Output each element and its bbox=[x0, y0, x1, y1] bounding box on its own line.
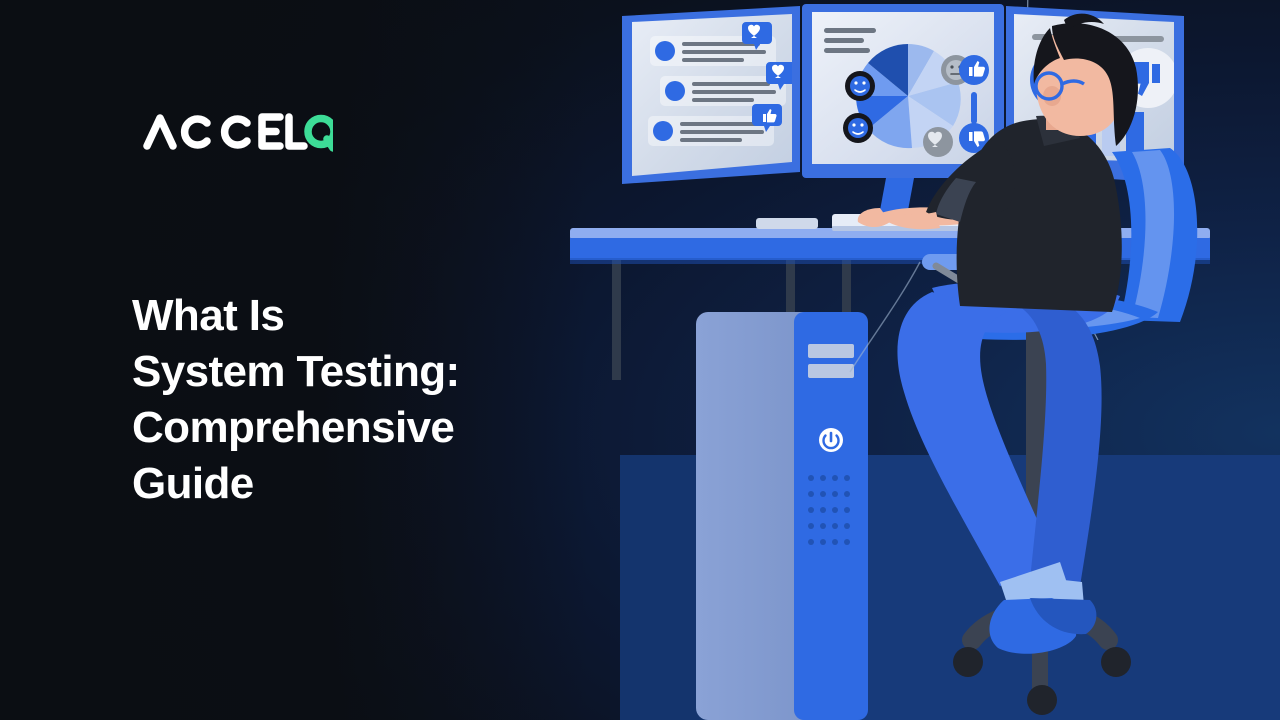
headline-line-4: Guide bbox=[132, 459, 254, 508]
workspace-illustration bbox=[560, 0, 1280, 720]
monitor-left-content bbox=[648, 22, 796, 146]
monitor-center[interactable] bbox=[802, 4, 1004, 178]
pc-tower[interactable] bbox=[696, 312, 868, 720]
text-line bbox=[682, 50, 766, 54]
text-line bbox=[682, 58, 744, 62]
text-line bbox=[824, 38, 864, 43]
page-title: What Is System Testing: Comprehensive Gu… bbox=[132, 288, 562, 512]
monitor-left[interactable] bbox=[622, 6, 800, 184]
accelq-logo[interactable]: ACCELQ bbox=[143, 108, 333, 154]
text-line bbox=[680, 138, 742, 142]
chair-caster bbox=[1101, 647, 1131, 677]
blog-banner: ACCELQ What Is System Testing: Comprehen… bbox=[0, 0, 1280, 720]
tower-drive-bay bbox=[808, 364, 854, 378]
emoji-marker bbox=[845, 71, 875, 101]
tower-drive-bay bbox=[808, 344, 854, 358]
mouse-pad bbox=[756, 218, 818, 229]
heart-marker bbox=[923, 127, 953, 157]
desk-leg-left bbox=[612, 260, 621, 380]
emoji-marker bbox=[843, 113, 873, 143]
text-line bbox=[692, 82, 770, 86]
text-line bbox=[692, 90, 776, 94]
avatar bbox=[653, 121, 673, 141]
avatar bbox=[655, 41, 675, 61]
text-line bbox=[680, 122, 758, 126]
chair-caster bbox=[953, 647, 983, 677]
headline-line-2: System Testing: bbox=[132, 347, 460, 396]
accelq-logo-mark bbox=[143, 108, 333, 154]
headline-line-1: What Is bbox=[132, 291, 284, 340]
avatar bbox=[665, 81, 685, 101]
text-line bbox=[692, 98, 754, 102]
slider-track bbox=[971, 92, 977, 124]
power-icon[interactable] bbox=[819, 428, 843, 452]
chair-caster bbox=[1027, 685, 1057, 715]
text-line bbox=[824, 28, 876, 33]
text-line bbox=[680, 130, 764, 134]
headline-line-3: Comprehensive bbox=[132, 403, 454, 452]
text-line bbox=[824, 48, 870, 53]
